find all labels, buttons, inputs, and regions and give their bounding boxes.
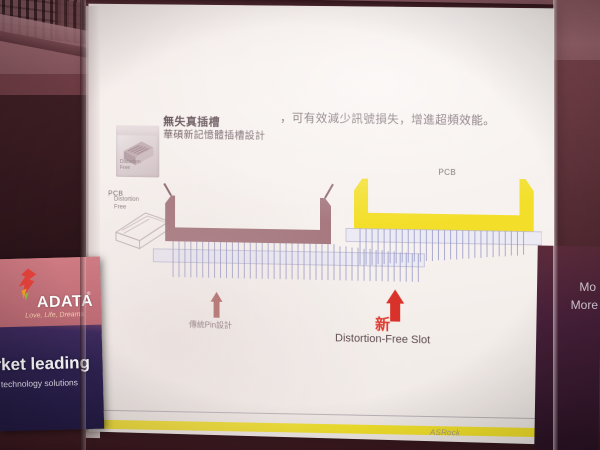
right-banner	[534, 245, 600, 450]
diagram-labels: 傳統Pin設計 新 Distortion-Free Slot	[151, 285, 541, 353]
isometric-caption: Distortion Free	[114, 197, 139, 213]
old-slot-label: 傳統Pin設計	[189, 319, 232, 331]
adata-banner-line2: re technology solutions	[0, 377, 78, 389]
new-slot-label-cn: 新	[375, 313, 390, 334]
old-arrow-up-icon	[211, 292, 223, 318]
old-slot-clip-left	[164, 183, 171, 195]
new-slot-group	[354, 176, 534, 231]
screen-left-seam	[80, 0, 86, 450]
old-slot-body	[165, 195, 331, 244]
wall-left-shadow	[0, 95, 92, 265]
slide-content: Distortion Free 無失真插槽 華碩新記憶體插槽設計 ，可有效減少訊…	[102, 89, 548, 444]
old-slot-clip-right	[325, 184, 333, 198]
iso-caption-line2: Free	[114, 204, 139, 212]
slot-cross-section-diagram	[151, 165, 541, 302]
right-banner-line1: Mo	[579, 280, 596, 294]
adata-banner-line1: rket leading	[0, 353, 90, 375]
iso-caption-line1: Distortion	[114, 197, 139, 205]
adata-banner: ADATA ® Love, Life, Dreams rket leading …	[0, 257, 104, 432]
new-slot-body	[354, 176, 534, 231]
screenshot-root: Distortion Free 無失真插槽 華碩新記憶體插槽設計 ，可有效減少訊…	[0, 0, 600, 450]
right-banner-line2: More	[571, 298, 598, 312]
headline-tail: ，可有效減少訊號損失，增進超頻效能。	[280, 109, 495, 128]
badge-caption-line2: Free	[120, 165, 141, 171]
screen-right-seam	[553, 0, 558, 450]
new-slot-label-en: Distortion-Free Slot	[335, 332, 430, 346]
asrock-logo: ASRock	[430, 428, 460, 438]
old-slot-group	[164, 181, 333, 244]
pcb-label-left: PCB	[108, 191, 123, 198]
pcb-label-right: PCB	[438, 168, 456, 177]
adata-trademark: ®	[87, 291, 91, 297]
pcb-bar-left	[153, 249, 424, 267]
